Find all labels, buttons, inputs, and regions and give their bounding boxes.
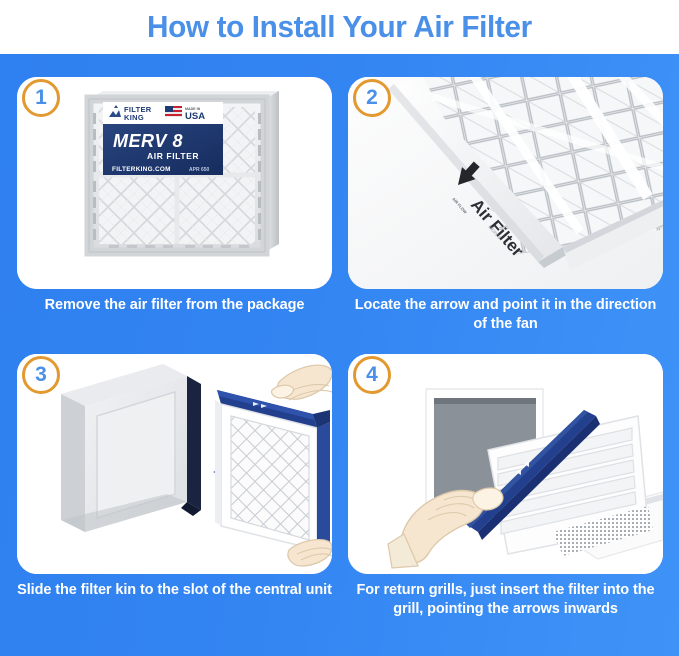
step-caption-3: Slide the filter kin to the slot of the … — [17, 581, 332, 600]
svg-text:KING: KING — [124, 113, 144, 122]
filter-corner-arrow-photo: AIR FLOW Air Filter MERV 8 — [348, 77, 663, 289]
step-caption-4: For return grills, just insert the filte… — [348, 581, 663, 619]
filter-product-photo: FILTER KING MADE IN USA M — [17, 77, 332, 289]
svg-text:AIR FILTER: AIR FILTER — [147, 151, 199, 161]
header-bar: How to Install Your Air Filter — [0, 0, 679, 54]
step-number-badge-3: 3 — [22, 356, 60, 394]
step-3-image-card — [17, 354, 332, 574]
step-4-image-card — [348, 354, 663, 574]
step-2-image-card: AIR FLOW Air Filter MERV 8 — [348, 77, 663, 289]
infographic-page: How to Install Your Air Filter — [0, 0, 679, 656]
step-number-badge-2: 2 — [353, 79, 391, 117]
svg-text:APR 650: APR 650 — [189, 167, 210, 173]
step-card-3: 3 Slide the filter kin to the slot of th… — [17, 354, 332, 639]
made-in-usa-icon — [165, 106, 182, 117]
step-number-badge-1: 1 — [22, 79, 60, 117]
step-number-badge-4: 4 — [353, 356, 391, 394]
steps-grid: FILTER KING MADE IN USA M — [0, 54, 679, 656]
slide-into-slot-illustration — [17, 354, 332, 574]
step-caption-2: Locate the arrow and point it in the dir… — [348, 296, 663, 334]
svg-text:FILTERKING.COM: FILTERKING.COM — [112, 166, 171, 173]
page-title: How to Install Your Air Filter — [147, 9, 532, 45]
step-card-2: AIR FLOW Air Filter MERV 8 2 Locate the … — [348, 77, 663, 342]
step-1-image-card: FILTER KING MADE IN USA M — [17, 77, 332, 289]
step-card-1: FILTER KING MADE IN USA M — [17, 77, 332, 342]
step-card-4: 4 For return grills, just insert the fil… — [348, 354, 663, 639]
return-grill-illustration — [348, 354, 663, 574]
svg-text:USA: USA — [185, 111, 205, 122]
svg-text:MERV 8: MERV 8 — [113, 131, 183, 151]
step-caption-1: Remove the air filter from the package — [17, 296, 332, 315]
